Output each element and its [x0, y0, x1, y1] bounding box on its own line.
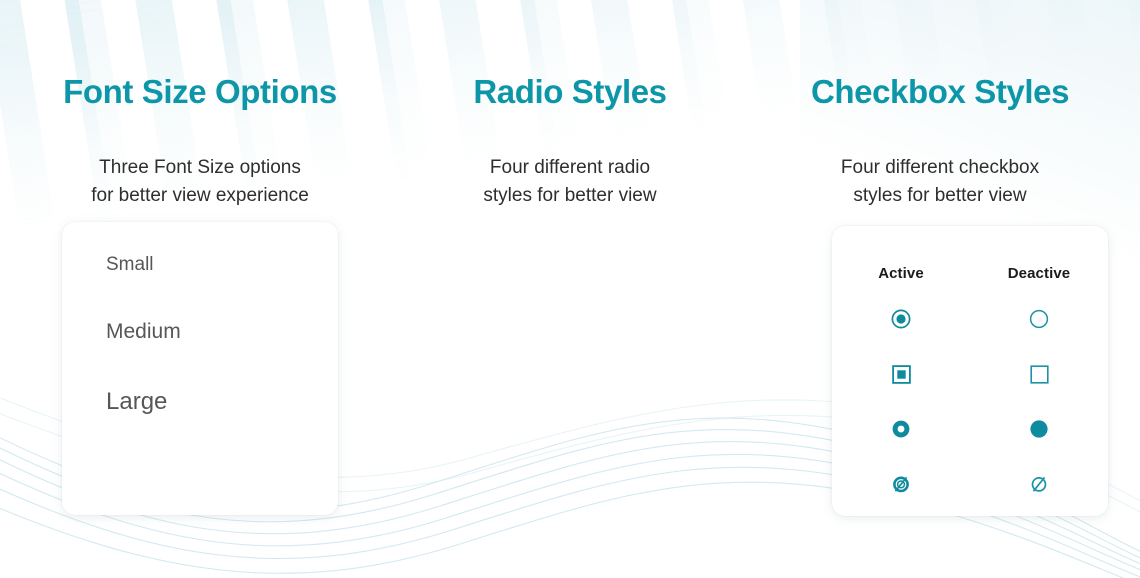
font-size-option-large[interactable]: Large — [106, 388, 320, 416]
panel-radio-styles: Radio Styles Four different radio styles… — [400, 0, 740, 578]
page-title-checkbox-styles: Checkbox Styles — [740, 72, 1140, 112]
page-title-font-size: Font Size Options — [0, 72, 400, 112]
panel-subtitle-radio-styles: Four different radio styles for better v… — [400, 154, 740, 210]
panel-checkbox-styles: Checkbox Styles Four different checkbox … — [740, 0, 1140, 578]
panel-subtitle-font-size: Three Font Size options for better view … — [0, 154, 400, 210]
font-size-option-list: Small Medium Large — [106, 254, 320, 416]
font-size-option-medium[interactable]: Medium — [106, 320, 320, 344]
panel-subtitle-checkbox-styles: Four different checkbox styles for bette… — [740, 154, 1140, 210]
panel-font-size-options: Font Size Options Three Font Size option… — [0, 0, 400, 578]
card-font-size-options: Small Medium Large — [62, 222, 338, 515]
page-title-radio-styles: Radio Styles — [400, 72, 740, 112]
font-size-option-small[interactable]: Small — [106, 254, 320, 276]
